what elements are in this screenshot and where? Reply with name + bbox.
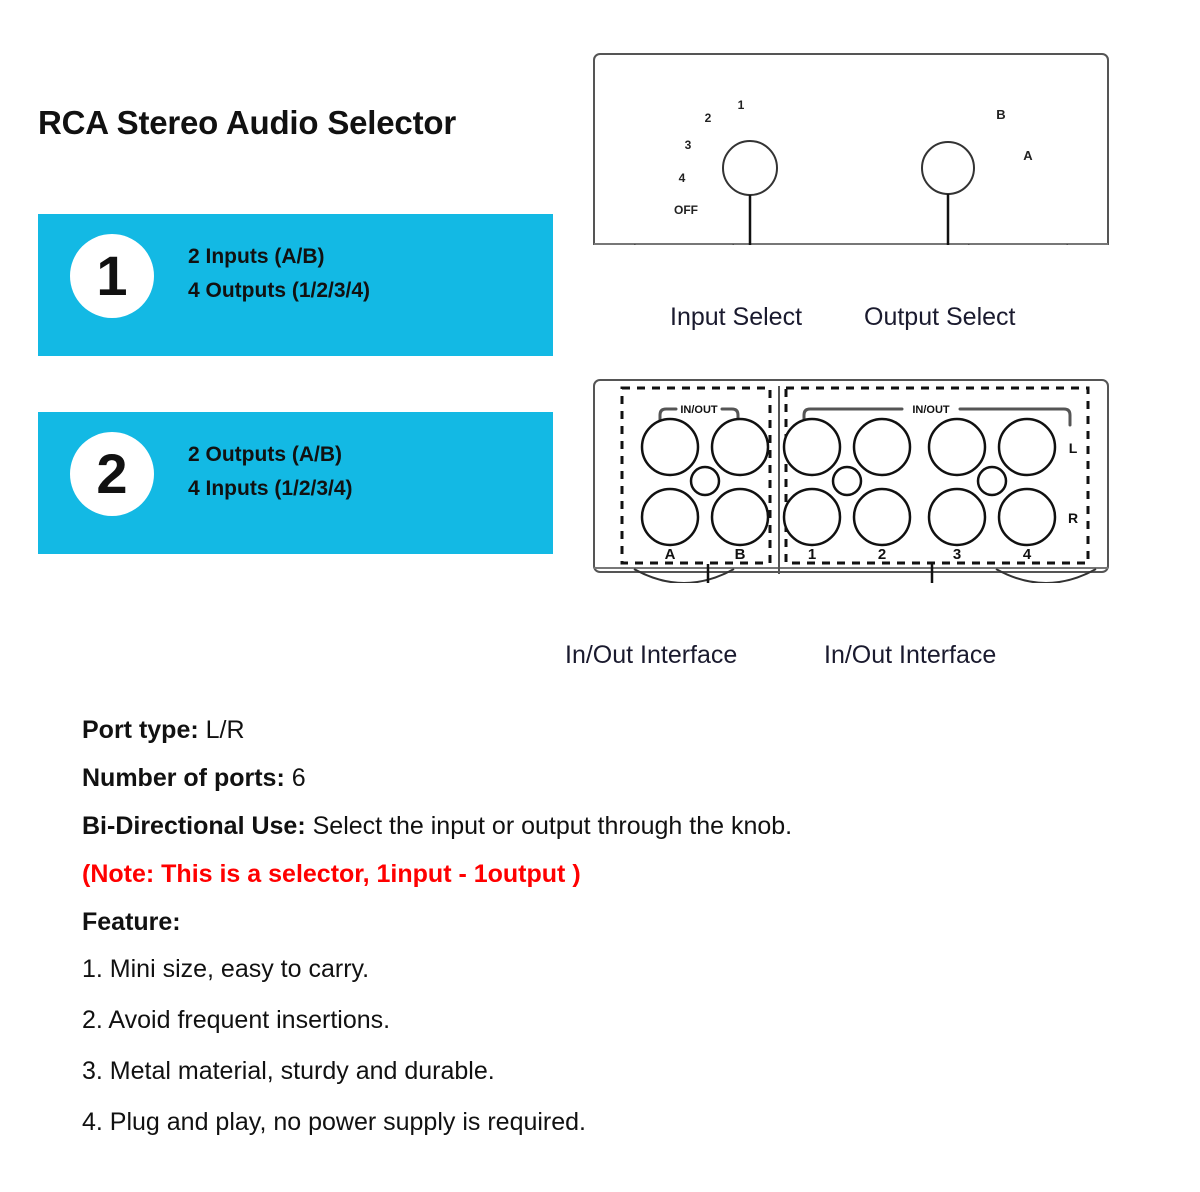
feature-item-3: 3. Metal material, sturdy and durable.	[82, 1059, 1142, 1084]
output-select-knob	[922, 142, 974, 194]
rca-jack-3-right	[929, 489, 985, 545]
port-label-b: B	[735, 546, 746, 563]
badge-1-line-2: 4 Outputs (1/2/3/4)	[188, 274, 370, 308]
feature-badge-2: 2 2 Outputs (A/B) 4 Inputs (1/2/3/4)	[38, 412, 553, 554]
spec-port-type-value: L/R	[206, 716, 245, 744]
port-label-2: 2	[878, 546, 886, 563]
output-position-a: A	[1023, 148, 1033, 163]
front-panel-diagram: 1 2 3 4 OFF B A	[592, 52, 1110, 245]
feature-item-4: 4. Plug and play, no power supply is req…	[82, 1110, 1142, 1135]
input-position-1: 1	[738, 98, 745, 112]
feature-heading: Feature:	[82, 910, 1142, 935]
rear-panel-diagram: IN/OUT IN/OUT A B 1 2 3 4 L R	[592, 378, 1110, 578]
input-position-4: 4	[679, 171, 686, 185]
spec-number-of-ports: Number of ports: 6	[82, 766, 1142, 791]
input-select-caption: Input Select	[670, 303, 802, 332]
rca-jack-4-left	[999, 419, 1055, 475]
row-label-r: R	[1068, 510, 1078, 526]
rca-jack-b-left	[712, 419, 768, 475]
spec-number-of-ports-key: Number of ports:	[82, 764, 285, 792]
rca-jack-4-right	[999, 489, 1055, 545]
right-inout-label: IN/OUT	[912, 404, 950, 416]
rca-jack-3-left	[929, 419, 985, 475]
spec-bidirectional-use-value: Select the input or output through the k…	[313, 812, 793, 840]
badge-text-2: 2 Outputs (A/B) 4 Inputs (1/2/3/4)	[188, 438, 353, 506]
spec-port-type: Port type: L/R	[82, 718, 1142, 743]
input-position-off: OFF	[674, 203, 698, 217]
screw-hole-right-2	[978, 467, 1006, 495]
rca-jack-1-right	[784, 489, 840, 545]
badge-text-1: 2 Inputs (A/B) 4 Outputs (1/2/3/4)	[188, 240, 370, 308]
spec-bidirectional-use: Bi-Directional Use: Select the input or …	[82, 814, 1142, 839]
specification-block: Port type: L/R Number of ports: 6 Bi-Dir…	[82, 718, 1142, 1161]
port-label-a: A	[665, 546, 676, 563]
page-title: RCA Stereo Audio Selector	[38, 104, 456, 142]
screw-hole-left	[691, 467, 719, 495]
rca-jack-1-left	[784, 419, 840, 475]
input-position-2: 2	[705, 111, 712, 125]
rca-jack-2-left	[854, 419, 910, 475]
feature-badge-1: 1 2 Inputs (A/B) 4 Outputs (1/2/3/4)	[38, 214, 553, 356]
feature-item-1: 1. Mini size, easy to carry.	[82, 957, 1142, 982]
badge-2-line-1: 2 Outputs (A/B)	[188, 438, 353, 472]
spec-port-type-key: Port type:	[82, 716, 199, 744]
spec-bidirectional-use-key: Bi-Directional Use:	[82, 812, 306, 840]
port-label-4: 4	[1023, 546, 1032, 563]
output-select-caption: Output Select	[864, 303, 1015, 332]
spec-number-of-ports-value: 6	[292, 764, 306, 792]
input-position-3: 3	[685, 138, 692, 152]
badge-2-line-2: 4 Inputs (1/2/3/4)	[188, 472, 353, 506]
rca-jack-a-left	[642, 419, 698, 475]
rca-jack-a-right	[642, 489, 698, 545]
right-interface-caption: In/Out Interface	[824, 641, 996, 670]
port-label-1: 1	[808, 546, 816, 563]
left-interface-caption: In/Out Interface	[565, 641, 737, 670]
feature-item-2: 2. Avoid frequent insertions.	[82, 1008, 1142, 1033]
badge-number-1: 1	[70, 234, 154, 318]
badge-1-line-1: 2 Inputs (A/B)	[188, 240, 370, 274]
rca-jack-2-right	[854, 489, 910, 545]
output-position-b: B	[996, 107, 1005, 122]
note-text: (Note: This is a selector, 1input - 1out…	[82, 862, 1142, 887]
left-inout-label: IN/OUT	[680, 404, 718, 416]
port-label-3: 3	[953, 546, 961, 563]
rca-jack-b-right	[712, 489, 768, 545]
row-label-l: L	[1069, 440, 1078, 456]
badge-number-2: 2	[70, 432, 154, 516]
input-select-knob	[723, 141, 777, 195]
screw-hole-right-1	[833, 467, 861, 495]
